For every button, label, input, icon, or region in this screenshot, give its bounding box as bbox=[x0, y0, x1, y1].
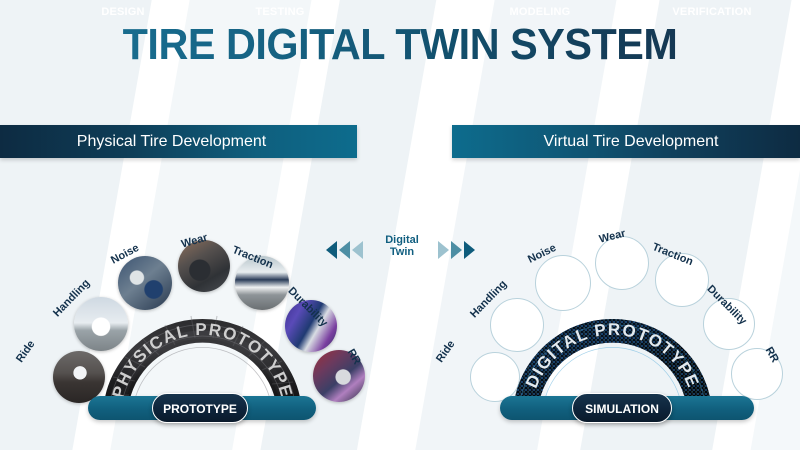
process-step-testing[interactable]: TESTING bbox=[248, 0, 312, 24]
process-step-design[interactable]: DESIGN bbox=[92, 0, 154, 24]
chevron-left-icon bbox=[339, 241, 350, 259]
process-step-simulation[interactable]: SIMULATION bbox=[572, 393, 672, 423]
chevron-left-icon bbox=[326, 241, 337, 259]
label-physical-ride: Ride bbox=[14, 338, 38, 364]
banner-virtual-tire-development: Virtual Tire Development bbox=[452, 125, 800, 158]
physical-prototype-arc: PHYSICAL PROTOTYPE bbox=[95, 285, 310, 410]
chevron-right-icon bbox=[451, 241, 462, 259]
svg-text:PHYSICAL PROTOTYPE: PHYSICAL PROTOTYPE bbox=[109, 320, 297, 400]
chevron-right-icon bbox=[438, 241, 449, 259]
digital-twin-connector: Digital Twin bbox=[310, 232, 490, 280]
label-virtual-ride: Ride bbox=[434, 338, 458, 364]
chevron-left-icon bbox=[352, 241, 363, 259]
process-step-prototype[interactable]: PROTOTYPE bbox=[152, 393, 248, 423]
slide-canvas: TIRE DIGITAL TWIN SYSTEM Physical Tire D… bbox=[0, 0, 800, 450]
digital-twin-label-line2: Twin bbox=[390, 246, 414, 258]
page-title: TIRE DIGITAL TWIN SYSTEM bbox=[24, 20, 776, 70]
process-step-modeling[interactable]: MODELING bbox=[504, 0, 576, 24]
digital-prototype-arc: DIGITAL PROTOTYPE bbox=[505, 285, 720, 410]
banner-physical-tire-development: Physical Tire Development bbox=[0, 125, 357, 158]
digital-twin-label: Digital Twin bbox=[372, 234, 432, 258]
chevron-right-icon bbox=[464, 241, 475, 259]
digital-twin-label-line1: Digital bbox=[385, 234, 419, 246]
process-step-verification[interactable]: VERIFICATION bbox=[670, 0, 754, 24]
digital-tire-arc-icon: DIGITAL PROTOTYPE bbox=[505, 285, 720, 410]
physical-arc-text: PHYSICAL PROTOTYPE bbox=[109, 320, 297, 400]
tire-arc-icon: PHYSICAL PROTOTYPE bbox=[95, 285, 310, 410]
